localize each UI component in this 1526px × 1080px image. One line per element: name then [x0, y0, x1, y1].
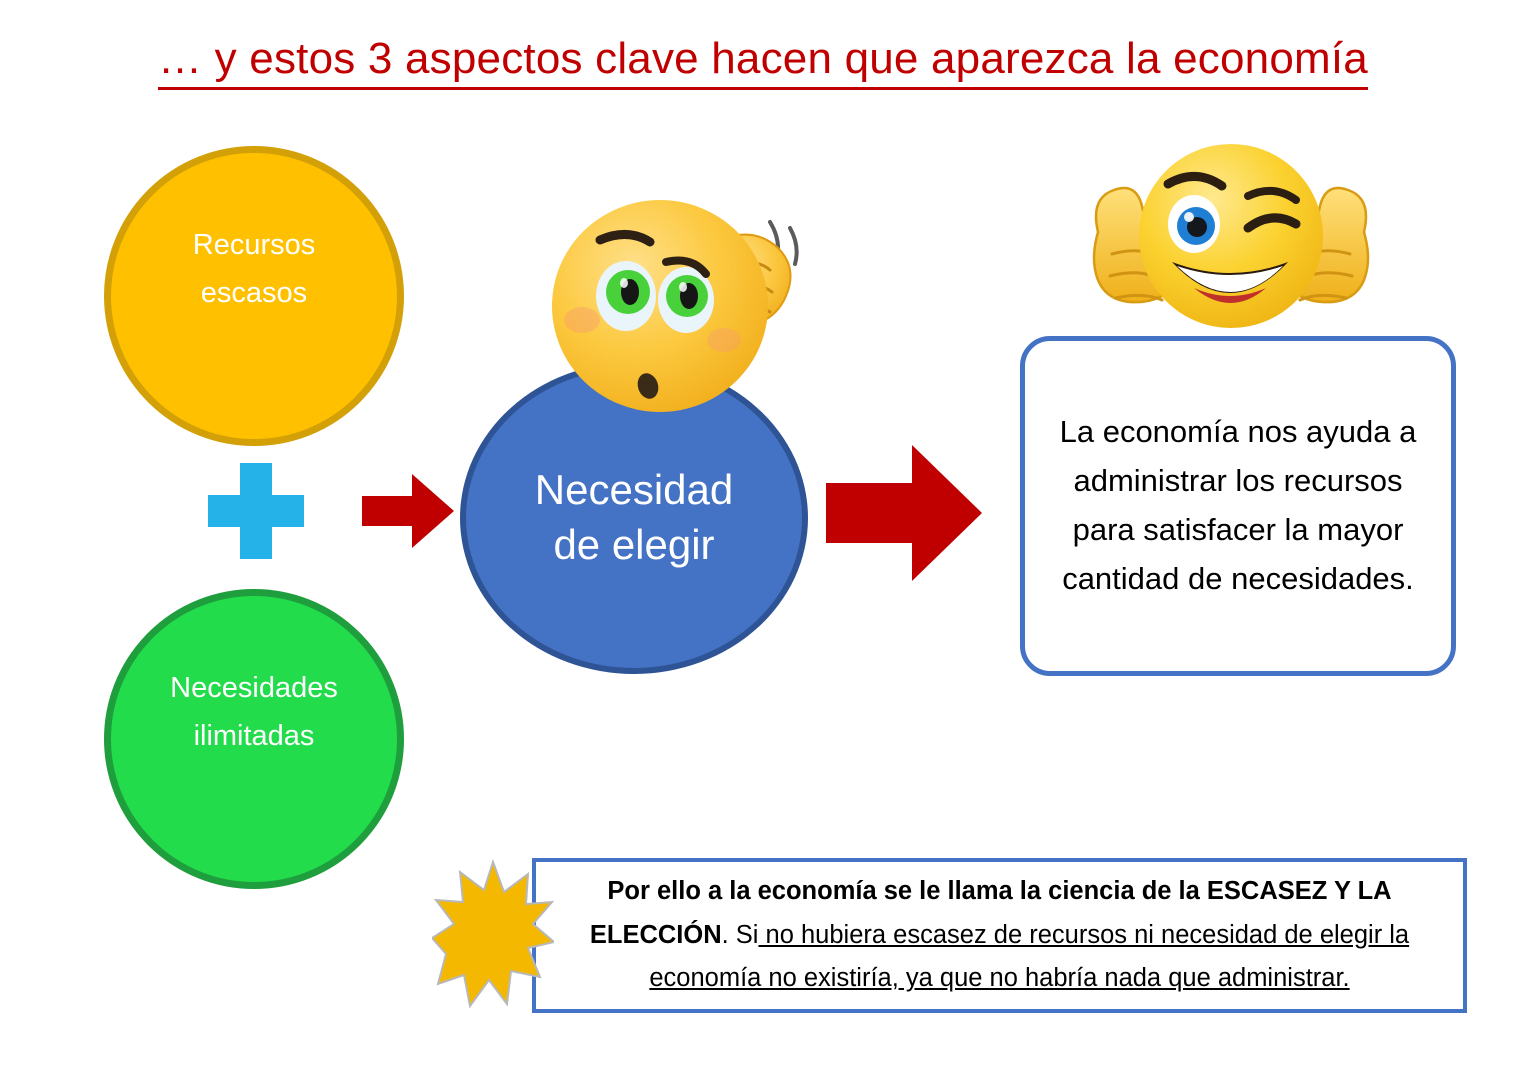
arrow-right-icon-large	[826, 441, 982, 585]
page-title: … y estos 3 aspectos clave hacen que apa…	[0, 34, 1526, 84]
callout-mid: . Si	[722, 921, 759, 949]
callout-underlined-tail: no hubiera escasez de recursos ni necesi…	[649, 921, 1409, 993]
starburst-icon	[432, 858, 554, 1008]
arrow-right-icon-small	[362, 472, 454, 550]
economia-explanation-box: La economía nos ayuda a administrar los …	[1020, 336, 1456, 676]
node-necesidad-line1: Necesidad	[535, 463, 733, 518]
node-necesidades-line2: ilimitadas	[194, 713, 315, 761]
node-recursos-line2: escasos	[201, 270, 307, 318]
node-recursos-line1: Recursos	[193, 222, 316, 270]
plus-icon	[208, 463, 304, 559]
page-title-text: … y estos 3 aspectos clave hacen que apa…	[158, 34, 1368, 90]
thumbs-up-smiley-emoji	[1076, 136, 1386, 338]
callout-text: Por ello a la economía se le llama la ci…	[536, 870, 1463, 1002]
callout-box: Por ello a la economía se le llama la ci…	[532, 858, 1467, 1013]
thinking-face-emoji	[538, 188, 824, 420]
slide-canvas: … y estos 3 aspectos clave hacen que apa…	[0, 0, 1526, 1080]
node-recursos-escasos[interactable]: Recursos escasos	[104, 146, 404, 446]
node-necesidad-line2: de elegir	[553, 518, 714, 573]
plus-icon-vertical-bar	[240, 463, 272, 559]
node-necesidades-ilimitadas[interactable]: Necesidades ilimitadas	[104, 589, 404, 889]
node-necesidades-line1: Necesidades	[170, 665, 338, 713]
economia-explanation-text: La economía nos ayuda a administrar los …	[1025, 408, 1451, 604]
